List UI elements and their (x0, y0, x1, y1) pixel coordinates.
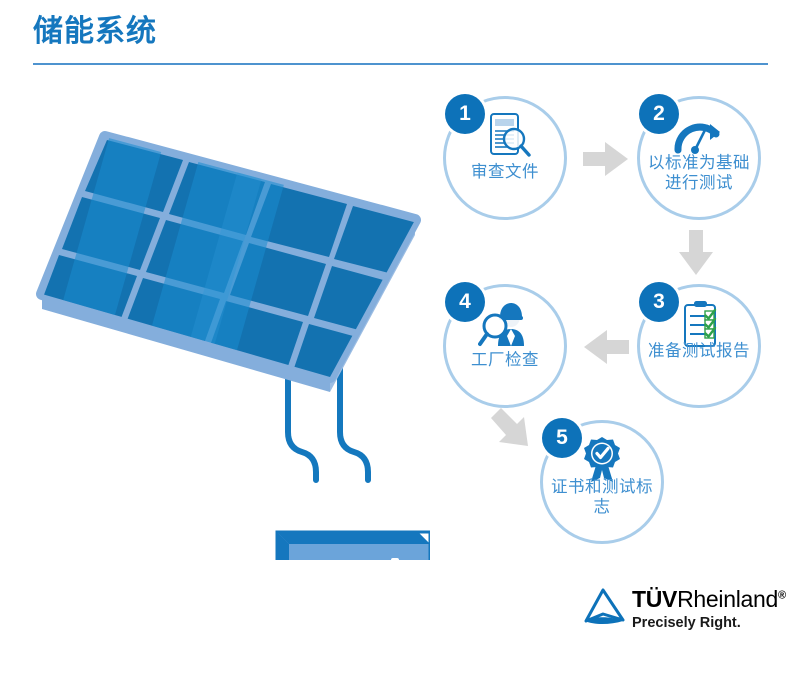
tuv-rheinland-logo: TÜVRheinland® Precisely Right. (580, 586, 780, 638)
inspector-magnifier-icon (478, 300, 532, 348)
step-label: 证书和测试标志 (544, 477, 660, 517)
title-divider (33, 63, 768, 65)
step-number-badge: 1 (445, 94, 485, 134)
logo-brand-regular: Rheinland (677, 586, 778, 612)
registered-mark: ® (778, 589, 786, 601)
certification-process-flow: 1 审查文件 2 (425, 88, 800, 568)
logo-tagline: Precisely Right. (632, 615, 741, 631)
arrow-step4-to-step5 (487, 404, 535, 452)
step-number-badge: 2 (639, 94, 679, 134)
logo-wordmark: TÜVRheinland® (632, 586, 786, 613)
process-step-4[interactable]: 4 工厂检查 (443, 284, 567, 408)
tuv-triangle-icon (580, 588, 626, 628)
page-title: 储能系统 (33, 14, 157, 50)
process-step-5[interactable]: 5 证书和测试标志 (540, 420, 664, 544)
solar-panel-battery-illustration (0, 80, 430, 560)
step-number-badge: 5 (542, 418, 582, 458)
arrow-step1-to-step2 (583, 140, 629, 178)
logo-brand-bold: TÜV (632, 586, 677, 612)
battery (277, 532, 430, 560)
arrow-step2-to-step3 (677, 230, 715, 276)
step-number-badge: 3 (639, 282, 679, 322)
document-magnifier-icon (478, 112, 532, 160)
step-number-badge: 4 (445, 282, 485, 322)
step-label: 工厂检查 (447, 350, 563, 370)
arrow-step3-to-step4 (583, 328, 629, 366)
step-label: 审查文件 (447, 162, 563, 182)
step-label: 准备测试报告 (641, 341, 757, 361)
step-label: 以标准为基础进行测试 (641, 153, 757, 193)
process-step-1[interactable]: 1 审查文件 (443, 96, 567, 220)
process-step-3[interactable]: 3 (637, 284, 761, 408)
process-step-2[interactable]: 2 以标准为基础进行测试 (637, 96, 761, 220)
